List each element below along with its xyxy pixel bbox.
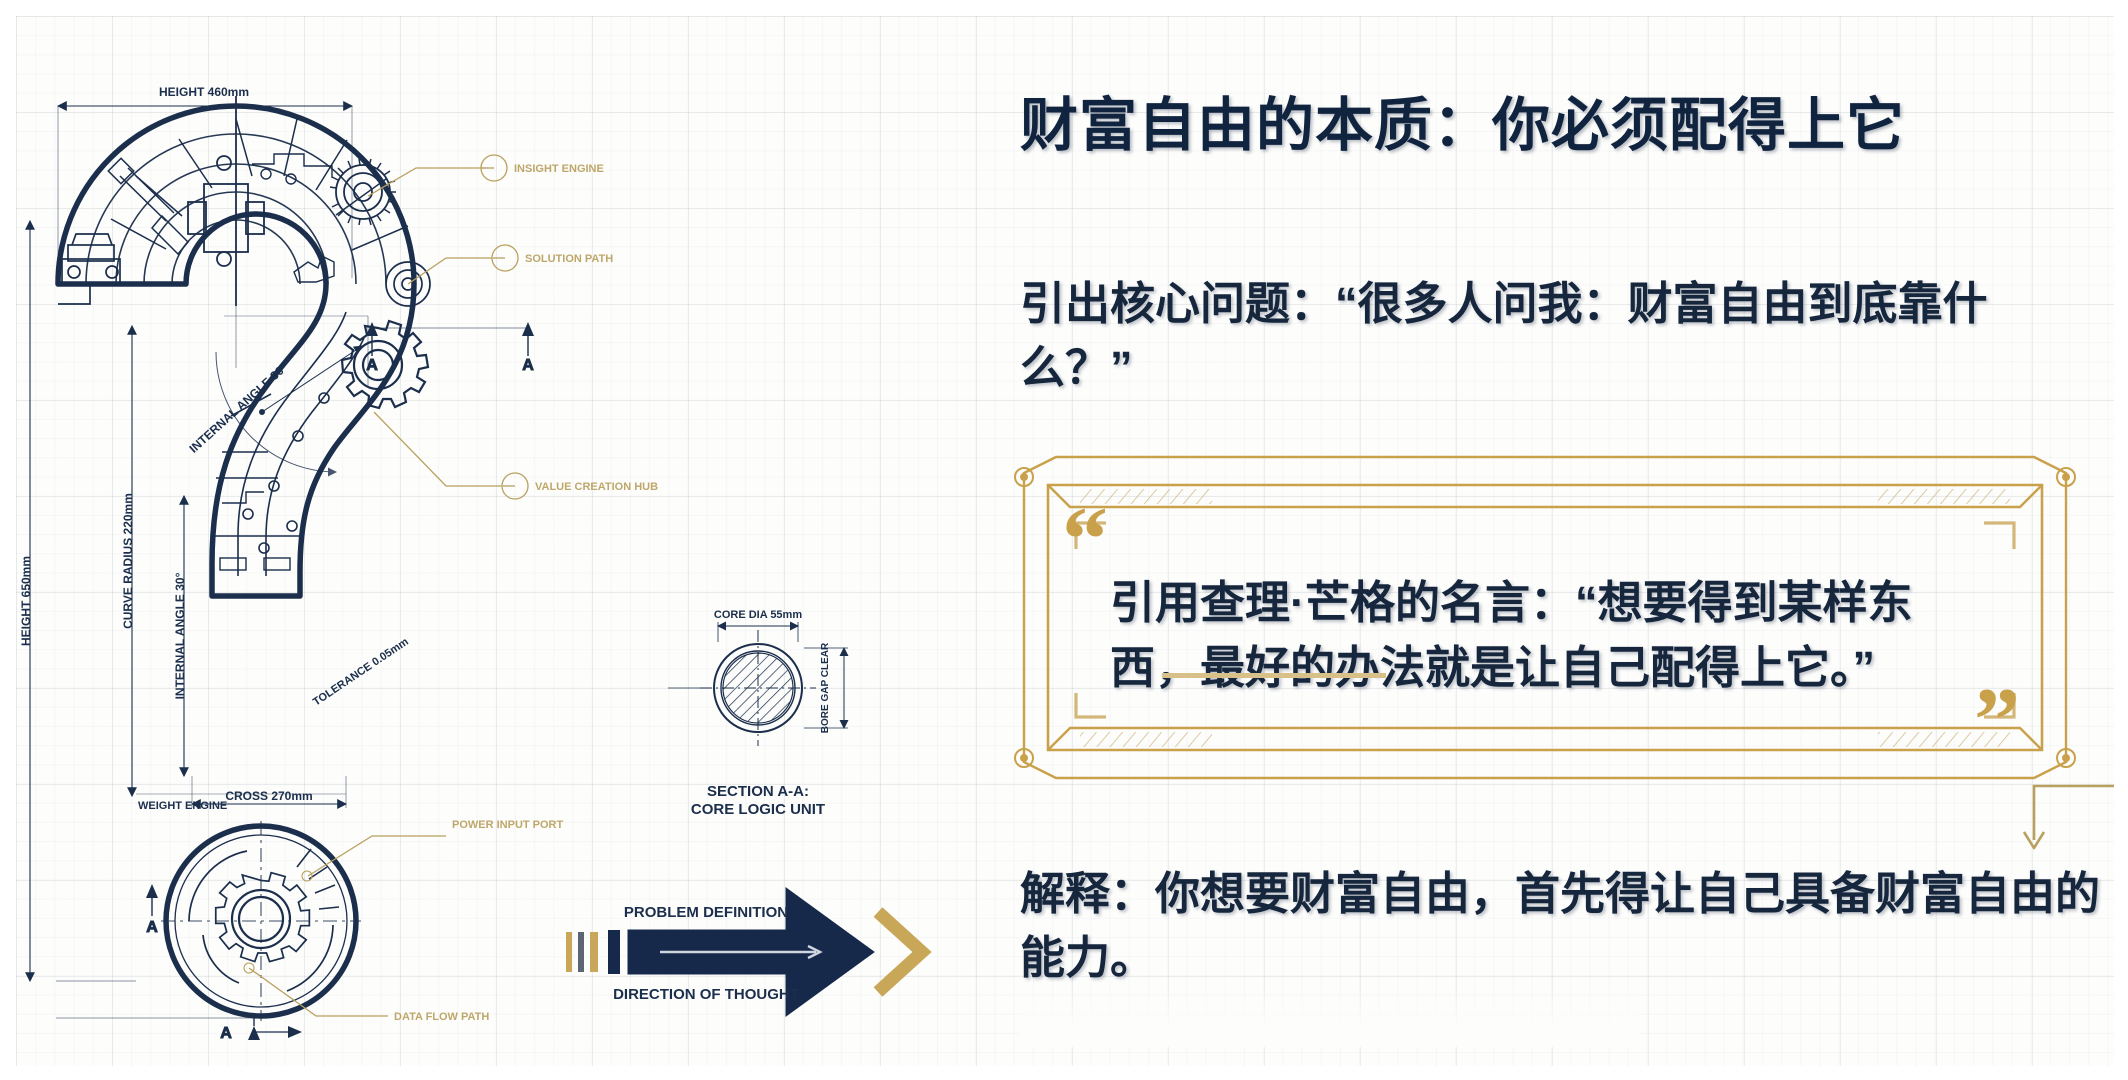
page-margin-bottom — [0, 1066, 2128, 1080]
connector-arrow — [2000, 778, 2120, 860]
section-mark-a-2: A — [522, 357, 534, 374]
section-title: SECTION A-A: — [707, 783, 809, 800]
callout-insight-engine-label: INSIGHT ENGINE — [514, 163, 604, 175]
callout-solution-path-label: SOLUTION PATH — [525, 253, 613, 265]
quote-text: 引用查理·芒格的名言：“想要得到某样东西，最好的办法就是让自己配得上它。” — [1110, 570, 2000, 701]
dim-curve-radius: CURVE RADIUS 220mm — [121, 493, 135, 629]
page-title: 财富自由的本质：你必须配得上它 — [1020, 78, 2100, 162]
dim-weight-engine: WEIGHT ENGINE — [138, 800, 227, 812]
section-mark-a-4: A — [220, 1025, 232, 1042]
quote-close-mark: ” — [1974, 684, 2020, 758]
explanation-paragraph: 解释：你想要财富自由，首先得让自己具备财富自由的能力。 — [1020, 862, 2105, 990]
callout-value-creation-hub-label: VALUE CREATION HUB — [535, 481, 658, 493]
dim-internal-angle-a: INTERNAL ANGLE 30° — [187, 360, 291, 455]
page-margin-right — [2114, 0, 2128, 1080]
dim-height-left: HEIGHT 650mm — [19, 556, 33, 646]
page-margin-left — [0, 0, 16, 1080]
quote-open-mark: “ — [1062, 503, 1108, 577]
callout-data-flow-label: DATA FLOW PATH — [394, 1011, 489, 1023]
section-subtitle: CORE LOGIC UNIT — [691, 801, 825, 818]
arrow-bottom-label: DIRECTION OF THOUGHT — [613, 986, 799, 1003]
dim-internal-angle-b: INTERNAL ANGLE 30° — [173, 572, 187, 699]
dim-cross-width: CROSS 270mm — [225, 789, 312, 803]
dim-height-top: HEIGHT 460mm — [159, 85, 249, 99]
lead-paragraph: 引出核心问题：“很多人问我：财富自由到底靠什么？” — [1020, 272, 2085, 400]
quote-panel: “ 引用查理·芒格的名言：“想要得到某样东西，最好的办法就是让自己配得上它。” … — [1002, 455, 2088, 780]
dim-bore-gap: BORE GAP CLEAR — [820, 642, 831, 733]
section-mark-a-3: A — [146, 919, 158, 936]
page-margin-top — [0, 0, 2128, 16]
dim-tolerance: TOLERANCE 0.05mm — [311, 636, 411, 709]
quote-underline-accent — [1162, 673, 1386, 678]
bottom-fade-overlay — [1020, 985, 1640, 1047]
callout-power-input-label: POWER INPUT PORT — [452, 819, 564, 831]
dim-core-dia: CORE DIA 55mm — [714, 609, 802, 621]
arrow-top-label: PROBLEM DEFINITION — [624, 904, 788, 921]
blueprint-illustration: HEIGHT 460mm HEIGHT 650mm CURVE RADIUS 2… — [16, 16, 996, 1066]
section-mark-a-1: A — [366, 357, 378, 374]
